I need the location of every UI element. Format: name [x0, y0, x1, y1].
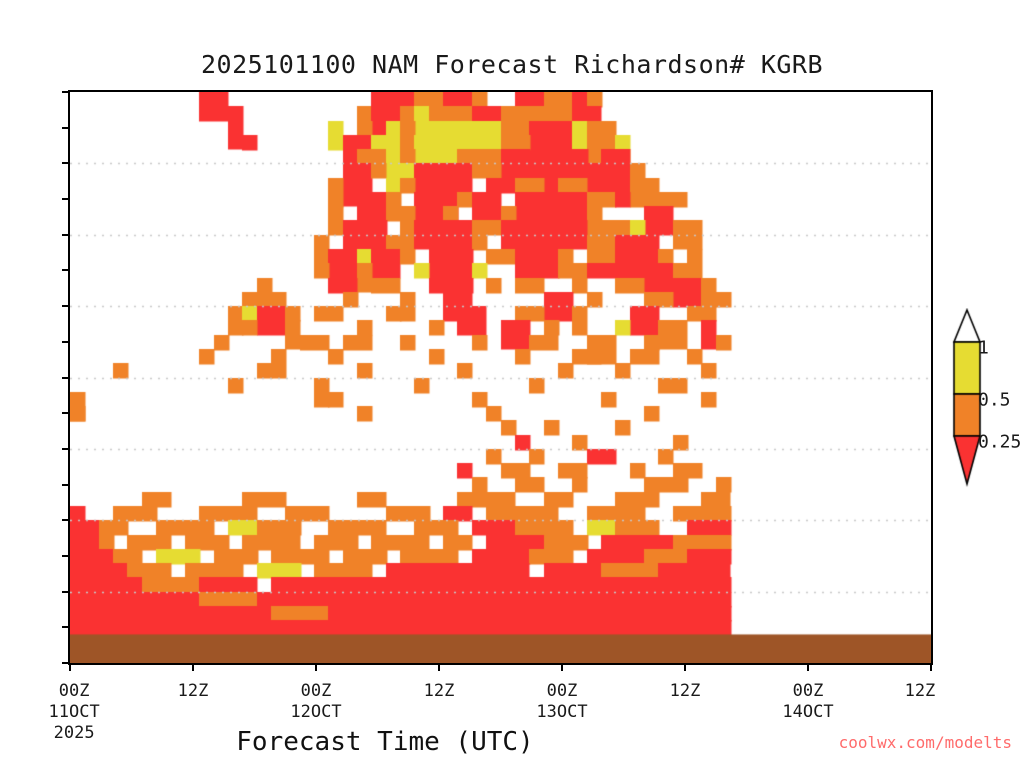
y-tick-mark	[62, 377, 69, 379]
x-tick-time: 12Z	[178, 681, 209, 702]
x-tick-mark	[930, 664, 932, 671]
x-tick-label: 12Z	[670, 681, 701, 702]
y-tick-mark	[62, 341, 69, 343]
x-tick-mark	[684, 664, 686, 671]
colorbar-tick-label: 0.5	[978, 390, 1011, 411]
x-tick-time: 00Z	[536, 681, 587, 702]
colorbar-tick-label: 1	[978, 338, 989, 359]
x-tick-mark	[69, 664, 71, 671]
y-tick-mark	[62, 662, 69, 664]
x-tick-label: 00Z14OCT	[782, 681, 833, 723]
x-tick-time: 12Z	[670, 681, 701, 702]
y-tick-mark	[62, 91, 69, 93]
x-tick-mark	[438, 664, 440, 671]
x-axis-title: Forecast Time (UTC)	[0, 727, 770, 757]
y-tick-mark	[62, 198, 69, 200]
y-tick-mark	[62, 412, 69, 414]
x-tick-mark	[315, 664, 317, 671]
x-tick-label: 12Z	[905, 681, 936, 702]
y-tick-mark	[62, 591, 69, 593]
x-tick-label: 00Z13OCT	[536, 681, 587, 723]
forecast-chart-figure: 2025101100 NAM Forecast Richardson# KGRB…	[0, 0, 1024, 768]
x-tick-time: 00Z	[290, 681, 341, 702]
page-title: 2025101100 NAM Forecast Richardson# KGRB	[0, 50, 1024, 79]
x-tick-label: 12Z	[178, 681, 209, 702]
y-tick-mark	[62, 555, 69, 557]
y-tick-mark	[62, 626, 69, 628]
x-tick-mark	[561, 664, 563, 671]
x-tick-date: 11OCT	[49, 702, 100, 723]
x-tick-mark	[192, 664, 194, 671]
x-tick-label: 12Z	[424, 681, 455, 702]
y-tick-mark	[62, 484, 69, 486]
richardson-number-colorbar: 10.50.25	[940, 308, 1020, 488]
x-tick-mark	[807, 664, 809, 671]
site-watermark: coolwx.com/modelts	[839, 733, 1012, 752]
colorbar-tick-label: 0.25	[978, 432, 1021, 453]
y-tick-mark	[62, 519, 69, 521]
y-tick-mark	[62, 305, 69, 307]
x-tick-date: 12OCT	[290, 702, 341, 723]
x-tick-time: 00Z	[782, 681, 833, 702]
y-tick-mark	[62, 127, 69, 129]
x-tick-time: 00Z	[49, 681, 100, 702]
heatmap-canvas	[70, 92, 931, 663]
x-tick-label: 00Z12OCT	[290, 681, 341, 723]
y-tick-mark	[62, 234, 69, 236]
x-tick-time: 12Z	[424, 681, 455, 702]
plot-area	[68, 90, 933, 665]
x-tick-date: 14OCT	[782, 702, 833, 723]
y-tick-mark	[62, 448, 69, 450]
x-tick-date: 13OCT	[536, 702, 587, 723]
y-tick-mark	[62, 269, 69, 271]
y-tick-mark	[62, 162, 69, 164]
x-tick-time: 12Z	[905, 681, 936, 702]
